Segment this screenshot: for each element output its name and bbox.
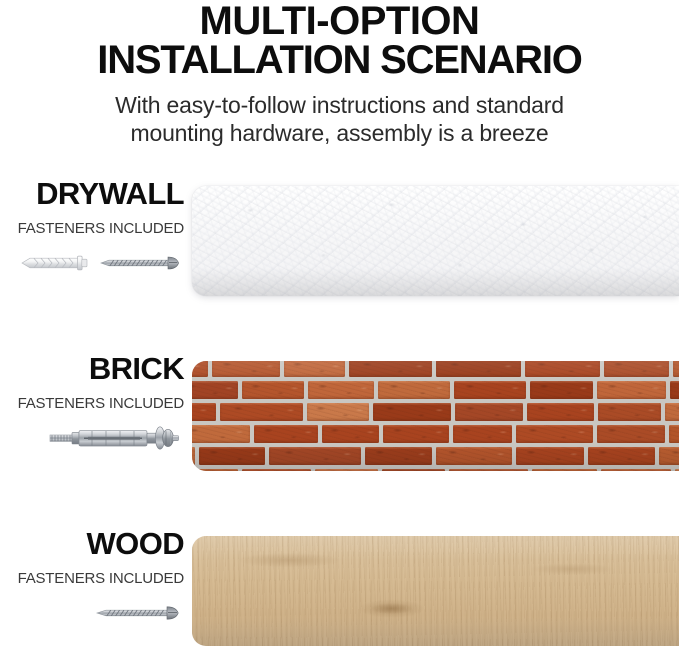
brick-fastener-row: [0, 421, 184, 455]
wood-sublabel: FASTENERS INCLUDED: [0, 570, 184, 587]
drywall-label: DRYWALL: [0, 178, 184, 209]
brick-unit: [192, 425, 250, 443]
brick-unit: [454, 381, 526, 399]
page-subtitle: With easy-to-follow instructions and sta…: [0, 92, 679, 146]
wood-label: WOOD: [0, 528, 184, 559]
brick-unit: [365, 447, 433, 465]
brick-unit: [308, 381, 374, 399]
wood-fastener-row: [0, 596, 184, 630]
subtitle-line-2: mounting hardware, assembly is a breeze: [0, 120, 679, 147]
plastic-wall-anchor-icon: [18, 253, 92, 273]
section-drywall: DRYWALL FASTENERS INCLUDED: [0, 178, 679, 303]
wood-grain-overlay: [192, 536, 679, 646]
pan-head-screw-icon: [98, 253, 184, 273]
brick-label-column: BRICK FASTENERS INCLUDED: [0, 353, 188, 455]
brick-unit: [597, 425, 666, 443]
brick-row: [192, 361, 679, 377]
brick-row: [192, 469, 679, 471]
section-wood: WOOD FASTENERS INCLUDED: [0, 528, 679, 643]
brick-unit: [220, 403, 303, 421]
brick-unit: [669, 425, 679, 443]
sleeve-expansion-anchor-bolt-icon: [48, 423, 184, 453]
brick-unit: [242, 381, 304, 399]
brick-row: [192, 447, 679, 465]
brick-unit: [532, 469, 598, 471]
brick-unit: [436, 447, 512, 465]
brick-unit: [382, 469, 445, 471]
brick-unit: [455, 403, 523, 421]
brick-unit: [525, 361, 601, 377]
wood-screw-icon: [94, 603, 184, 623]
brick-row: [192, 425, 679, 443]
brick-rows: [192, 361, 679, 471]
drywall-fastener-row: [0, 246, 184, 280]
brick-unit: [516, 447, 584, 465]
brick-row: [192, 403, 679, 421]
brick-unit: [675, 469, 679, 471]
brick-unit: [383, 425, 449, 443]
wood-label-column: WOOD FASTENERS INCLUDED: [0, 528, 188, 630]
brick-unit: [242, 469, 311, 471]
drywall-material-panel: [192, 186, 679, 296]
brick-unit: [199, 447, 265, 465]
drywall-sublabel: FASTENERS INCLUDED: [0, 220, 184, 237]
brick-unit: [373, 403, 450, 421]
brick-unit: [436, 361, 521, 377]
brick-unit: [349, 361, 432, 377]
brick-unit: [601, 469, 670, 471]
wood-material-panel: [192, 536, 679, 646]
brick-unit: [516, 425, 593, 443]
brick-unit: [659, 447, 679, 465]
brick-unit: [307, 403, 369, 421]
brick-unit: [254, 425, 318, 443]
drywall-panel-shade: [192, 186, 679, 296]
brick-unit: [192, 469, 238, 471]
section-brick: BRICK FASTENERS INCLUDED: [0, 353, 679, 478]
brick-unit: [527, 403, 594, 421]
brick-sublabel: FASTENERS INCLUDED: [0, 395, 184, 412]
brick-unit: [530, 381, 593, 399]
brick-unit: [192, 447, 195, 465]
brick-unit: [284, 361, 345, 377]
brick-unit: [670, 381, 679, 399]
brick-material-panel: [192, 361, 679, 471]
brick-unit: [449, 469, 528, 471]
brick-unit: [212, 361, 280, 377]
brick-unit: [192, 361, 208, 377]
brick-unit: [378, 381, 450, 399]
brick-unit: [598, 403, 661, 421]
brick-label: BRICK: [0, 353, 184, 384]
brick-unit: [192, 381, 238, 399]
brick-unit: [269, 447, 360, 465]
brick-unit: [588, 447, 656, 465]
brick-unit: [453, 425, 512, 443]
brick-unit: [315, 469, 378, 471]
drywall-label-column: DRYWALL FASTENERS INCLUDED: [0, 178, 188, 280]
subtitle-line-1: With easy-to-follow instructions and sta…: [0, 92, 679, 119]
header: MULTI-OPTION INSTALLATION SCENARIO With …: [0, 0, 679, 147]
wood-panel-shade: [192, 536, 679, 646]
brick-unit: [597, 381, 667, 399]
brick-unit: [673, 361, 679, 377]
brick-unit: [322, 425, 379, 443]
brick-unit: [665, 403, 679, 421]
brick-row: [192, 381, 679, 399]
title-line-1: MULTI-OPTION: [0, 2, 679, 41]
page-title: MULTI-OPTION INSTALLATION SCENARIO: [0, 2, 679, 80]
brick-unit: [192, 403, 216, 421]
title-line-2: INSTALLATION SCENARIO: [0, 41, 679, 80]
brick-unit: [604, 361, 669, 377]
